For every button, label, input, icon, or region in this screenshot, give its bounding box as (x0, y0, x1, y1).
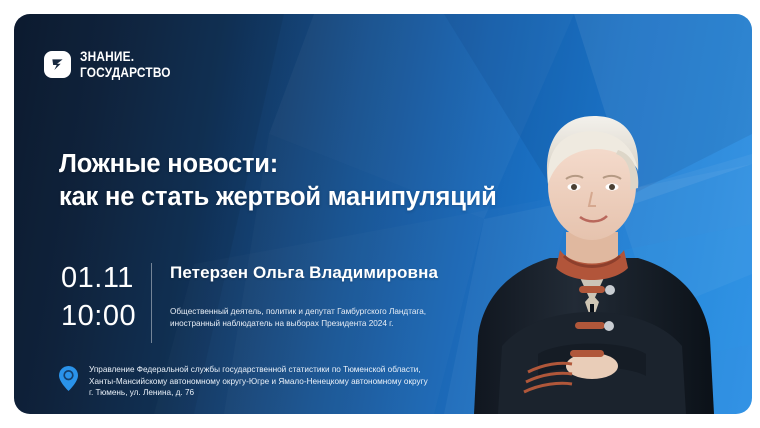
venue-address: Управление Федеральной службы государств… (89, 364, 428, 399)
event-time: 10:00 (61, 297, 149, 335)
speaker-description-line-1: Общественный деятель, политик и депутат … (170, 306, 438, 318)
speaker-photo (442, 54, 742, 414)
brand-logo: ЗНАНИЕ. ГОСУДАРСТВО (44, 50, 183, 79)
venue-line-2: Ханты-Мансийскому автономному округу-Югр… (89, 376, 428, 388)
event-poster-card: ЗНАНИЕ. ГОСУДАРСТВО Ложные новости: как … (14, 14, 752, 414)
brand-logo-text: ЗНАНИЕ. ГОСУДАРСТВО (80, 50, 171, 79)
znanie-z-mark-icon (44, 51, 71, 78)
venue-block: Управление Федеральной службы государств… (58, 364, 428, 399)
speaker-description-line-2: иностранный наблюдатель на выборах Прези… (170, 318, 438, 330)
headline-line-2: как не стать жертвой манипуляций (59, 181, 497, 214)
venue-line-1: Управление Федеральной службы государств… (89, 364, 428, 376)
speaker-description: Общественный деятель, политик и депутат … (170, 306, 438, 329)
event-info-block: 01.11 10:00 Петерзен Ольга Владимировна … (61, 259, 438, 343)
poster-headline: Ложные новости: как не стать жертвой ман… (59, 148, 497, 214)
event-date: 01.11 (61, 259, 149, 297)
headline-line-1: Ложные новости: (59, 148, 497, 181)
brand-line-1: ЗНАНИЕ. (80, 50, 171, 64)
brand-line-2: ГОСУДАРСТВО (80, 66, 171, 80)
vertical-divider (151, 263, 152, 343)
event-datetime: 01.11 10:00 (61, 259, 149, 335)
venue-line-3: г. Тюмень, ул. Ленина, д. 76 (89, 387, 428, 399)
speaker-name: Петерзен Ольга Владимировна (170, 262, 438, 283)
speaker-block: Петерзен Ольга Владимировна Общественный… (170, 259, 438, 329)
location-pin-icon (58, 365, 79, 392)
